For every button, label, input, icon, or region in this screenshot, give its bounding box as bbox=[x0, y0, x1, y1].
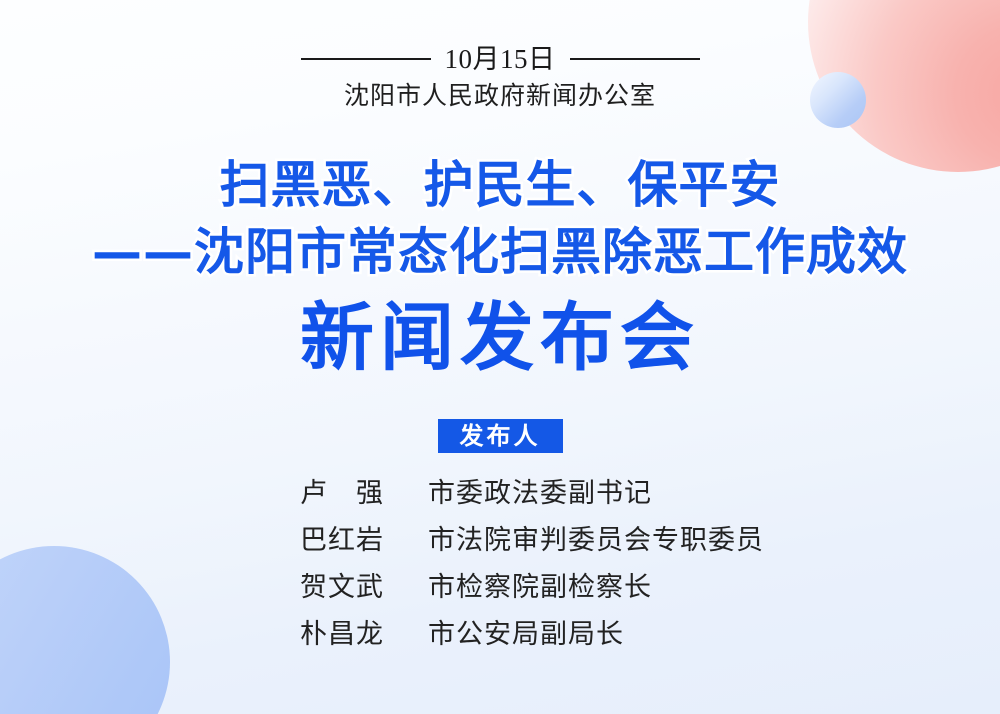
speaker-row: 卢 强 市委政法委副书记 bbox=[300, 475, 940, 522]
title-line-1: 扫黑恶、护民生、保平安 bbox=[0, 155, 1000, 216]
speaker-name: 巴红岩 bbox=[300, 522, 428, 560]
rule-right bbox=[570, 58, 700, 60]
main-title: 扫黑恶、护民生、保平安 ——沈阳市常态化扫黑除恶工作成效 bbox=[0, 155, 1000, 283]
decorative-large-blue-circle bbox=[0, 546, 170, 714]
speaker-row: 朴昌龙 市公安局副局长 bbox=[300, 616, 940, 663]
subtitle-text: 新闻发布会 bbox=[0, 293, 1000, 383]
speakers-list: 卢 强 市委政法委副书记 巴红岩 市法院审判委员会专职委员 贺文武 市检察院副检… bbox=[300, 475, 940, 663]
speaker-row: 巴红岩 市法院审判委员会专职委员 bbox=[300, 522, 940, 569]
speaker-row: 贺文武 市检察院副检察长 bbox=[300, 569, 940, 616]
speaker-title: 市公安局副局长 bbox=[428, 616, 624, 654]
speaker-name: 朴昌龙 bbox=[300, 616, 428, 654]
speaker-name: 卢 强 bbox=[300, 475, 428, 513]
speaker-name: 贺文武 bbox=[300, 569, 428, 607]
date-row: 10月15日 bbox=[0, 44, 1000, 74]
title-line-2: ——沈阳市常态化扫黑除恶工作成效 bbox=[0, 222, 1000, 283]
poster-header: 10月15日 沈阳市人民政府新闻办公室 bbox=[0, 44, 1000, 112]
speaker-title: 市委政法委副书记 bbox=[428, 475, 652, 513]
rule-left bbox=[301, 58, 431, 60]
organization-text: 沈阳市人民政府新闻办公室 bbox=[0, 82, 1000, 112]
speaker-title: 市法院审判委员会专职委员 bbox=[428, 522, 764, 560]
badge-container: 发布人 bbox=[0, 419, 1000, 453]
speakers-badge: 发布人 bbox=[438, 419, 563, 453]
speaker-title: 市检察院副检察长 bbox=[428, 569, 652, 607]
press-conference-poster: 10月15日 沈阳市人民政府新闻办公室 扫黑恶、护民生、保平安 ——沈阳市常态化… bbox=[0, 0, 1000, 714]
date-text: 10月15日 bbox=[445, 44, 556, 74]
